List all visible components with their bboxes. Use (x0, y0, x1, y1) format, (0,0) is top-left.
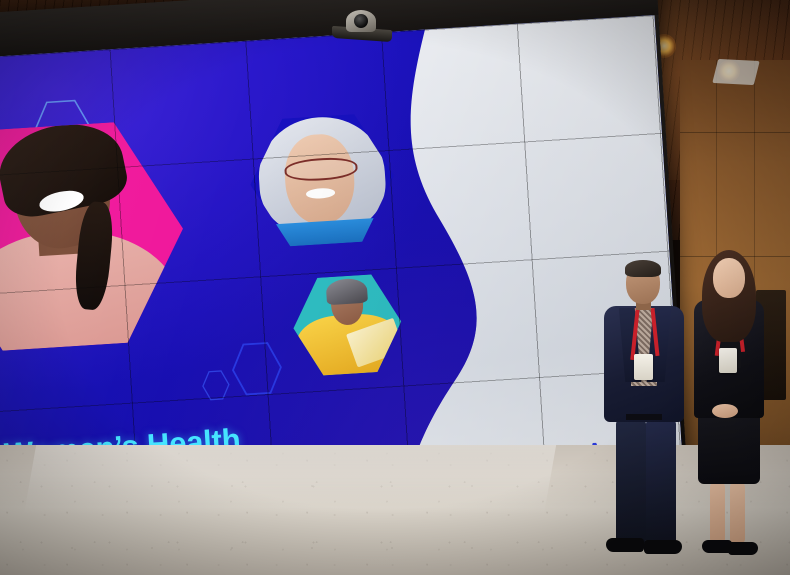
woman-skirt (698, 414, 760, 484)
portrait-reading-hair (325, 278, 368, 305)
woman-hands (712, 404, 738, 418)
conference-photo-scene: to the print for Women’s Health t July 3… (0, 0, 790, 575)
man-leg-left (616, 420, 646, 544)
ceiling-access-panel (712, 59, 759, 85)
man-hair (625, 260, 661, 277)
woman-leg-right (730, 482, 745, 544)
man-name-badge (634, 354, 653, 380)
woman-shoe-right (728, 542, 758, 555)
man-shoe-right (644, 540, 682, 554)
woman-leg-left (710, 482, 725, 544)
person-man (598, 262, 690, 556)
woman-head (713, 258, 745, 298)
ptz-conference-camera-icon (332, 8, 392, 44)
woman-name-badge (719, 348, 737, 373)
man-belt (626, 414, 662, 420)
man-shoe-left (606, 538, 644, 552)
camera-lens (354, 14, 368, 28)
man-leg-right (646, 420, 676, 544)
person-woman (686, 252, 772, 560)
